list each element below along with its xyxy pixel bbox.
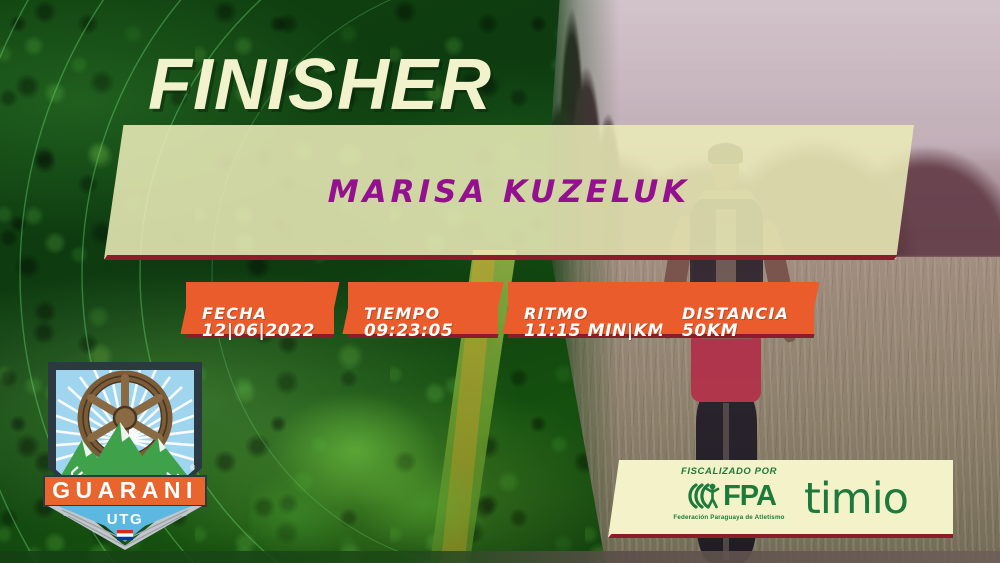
fpa-logo-icon <box>682 480 722 512</box>
finisher-certificate: FINISHER MARISA KUZELUK FECHA 12|06|2022… <box>0 0 1000 563</box>
stats-row: FECHA 12|06|2022 TIEMPO 09:23:05 RITMO 1… <box>0 282 1000 344</box>
fpa-full-name: Federación Paraguaya de Atletismo <box>664 514 794 521</box>
sanctioned-label: FISCALIZADO POR <box>664 466 794 477</box>
stat-value-fecha: 12|06|2022 <box>202 323 315 340</box>
stat-value-tiempo: 09:23:05 <box>364 323 453 340</box>
bottom-edge-strip <box>0 551 1000 563</box>
sponsor-footer-content: FISCALIZADO POR FPA Federación Paraguaya… <box>608 460 953 538</box>
timio-logo: timio <box>804 478 908 521</box>
athlete-name: MARISA KUZELUK <box>103 125 915 259</box>
ultra-trail-guarani-shield-icon: ULTRA-TRAIL ® GUARANI UTG <box>34 358 216 550</box>
paraguay-flag-icon <box>117 530 133 540</box>
federation-block: FISCALIZADO POR FPA Federación Paraguaya… <box>664 466 794 521</box>
stat-card-ritmo: RITMO 11:15 MIN|KM <box>508 282 676 334</box>
fpa-runner-figure <box>707 484 718 507</box>
stat-card-tiempo: TIEMPO 09:23:05 <box>348 282 498 334</box>
logo-utg-text: UTG <box>107 511 143 528</box>
stat-card-distancia: DISTANCIA 50KM <box>666 282 814 334</box>
ultra-trail-guarani-logo: ULTRA-TRAIL ® GUARANI UTG <box>34 358 216 550</box>
stat-card-fecha: FECHA 12|06|2022 <box>186 282 334 334</box>
stat-value-distancia: 50KM <box>682 323 789 340</box>
page-title: FINISHER <box>148 44 492 126</box>
stat-value-ritmo: 11:15 MIN|KM <box>524 323 665 340</box>
foreground-rock <box>250 355 500 563</box>
fpa-acronym: FPA <box>723 482 776 511</box>
svg-text:®: ® <box>190 464 196 472</box>
